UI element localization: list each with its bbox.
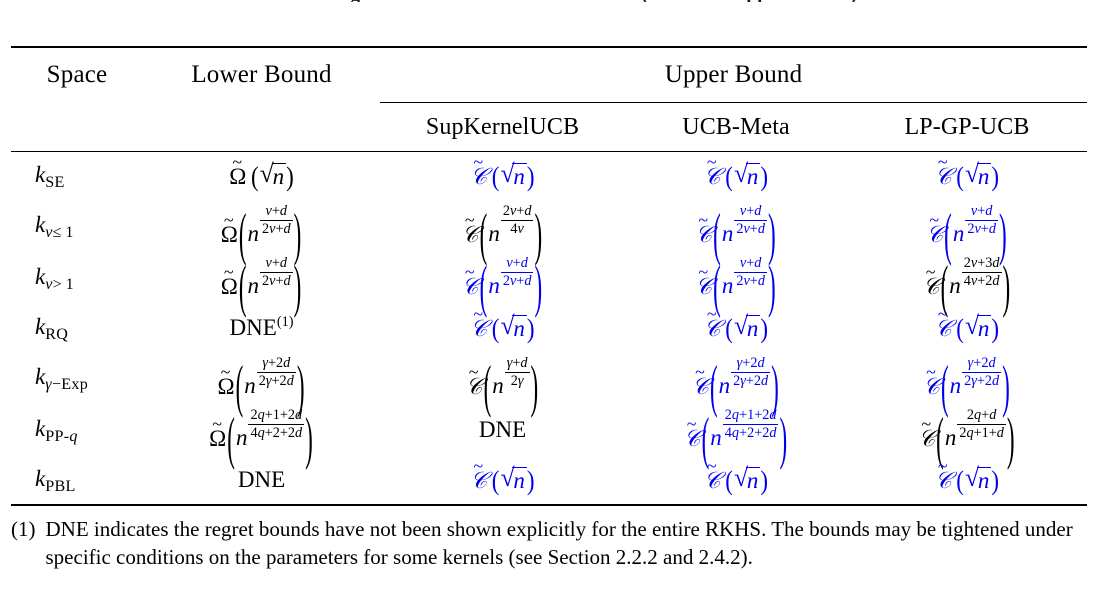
tilde-accent-icon: ~ xyxy=(465,212,475,230)
bounds-table: Space Lower Bound Upper Bound xyxy=(11,48,1087,102)
sqrt-icon: √n xyxy=(965,163,991,188)
cell-ucb-meta: ~𝒞(nν+d2ν+d) xyxy=(625,200,847,252)
cell-lp-gp-ucb: ~𝒞(nν+d2ν+d) xyxy=(847,200,1087,252)
bound-expression: ~𝒞 (√n) xyxy=(935,163,999,188)
cell-lp-gp-ucb: ~𝒞(n2ν+3d4ν+2d) xyxy=(847,252,1087,304)
bound-expression: ~𝒞(nγ+2d2γ+2d) xyxy=(923,356,1011,397)
space-kernel-label: kν> 1 xyxy=(35,265,74,293)
footnote-marker: (1) xyxy=(11,516,36,544)
bound-expression: ~𝒞 (√n) xyxy=(935,467,999,492)
sqrt-icon: √n xyxy=(734,467,760,492)
bound-expression: ~Ω(nν+d2ν+d) xyxy=(221,204,303,245)
cell-ucb-meta: ~𝒞(nγ+2d2γ+2d) xyxy=(625,352,847,404)
tilde-accent-icon: ~ xyxy=(707,154,717,172)
accent-tilde-symbol: ~𝒞 xyxy=(692,375,709,398)
cell-lower-bound: ~Ω(nν+d2ν+d) xyxy=(143,200,380,252)
cell-lower-bound: ~Ω (√n) xyxy=(143,152,380,200)
sqrt-icon: √n xyxy=(500,315,526,340)
regret-bounds-table: Space Lower Bound Upper Bound SupKernelU… xyxy=(11,46,1087,506)
bound-expression: ~𝒞(nν+d2ν+d) xyxy=(695,204,776,245)
accent-tilde-symbol: ~𝒞 xyxy=(704,317,721,340)
tilde-accent-icon: ~ xyxy=(698,212,708,230)
tilde-accent-icon: ~ xyxy=(929,212,939,230)
exponent-fraction: 2q+1+2d4q+2+2d xyxy=(248,408,304,440)
exponent-fraction: γ+d2γ xyxy=(505,356,530,388)
cell-lp-gp-ucb: ~𝒞 (√n) xyxy=(847,456,1087,504)
sqrt-icon: √n xyxy=(500,163,526,188)
accent-tilde-symbol: ~𝒞 xyxy=(704,469,721,492)
bound-expression: ~Ω(nγ+2d2γ+2d) xyxy=(218,356,306,397)
table-bottom-rule xyxy=(11,504,1087,506)
exponent-fraction: 2ν+3d4ν+2d xyxy=(962,256,1002,288)
bound-expression: ~𝒞 (√n) xyxy=(470,467,534,492)
cell-supkernelucb: ~𝒞 (√n) xyxy=(380,152,625,200)
space-kernel-label: kRQ xyxy=(35,315,68,343)
space-kernel-label: kPBL xyxy=(35,467,76,495)
tilde-accent-icon: ~ xyxy=(921,416,931,434)
exponent-fraction: γ+2d2γ+2d xyxy=(962,356,1001,388)
tilde-accent-icon: ~ xyxy=(938,306,948,324)
accent-tilde-symbol: ~𝒞 xyxy=(470,317,487,340)
bound-expression: ~Ω(nν+d2ν+d) xyxy=(221,256,303,297)
accent-tilde-symbol: ~𝒞 xyxy=(923,375,940,398)
table-row: kPBLDNE~𝒞 (√n)~𝒞 (√n)~𝒞 (√n) xyxy=(11,456,1087,504)
bound-expression: ~𝒞(nγ+2d2γ+2d) xyxy=(692,356,780,397)
accent-tilde-symbol: ~𝒞 xyxy=(462,275,479,298)
cell-supkernelucb: ~𝒞(nν+d2ν+d) xyxy=(380,252,625,304)
cell-ucb-meta: ~𝒞 (√n) xyxy=(625,152,847,200)
table-footnote: (1) DNE indicates the regret bounds have… xyxy=(11,516,1087,572)
sqrt-icon: √n xyxy=(965,467,991,492)
cell-ucb-meta: ~𝒞(nν+d2ν+d) xyxy=(625,252,847,304)
cell-ucb-meta: ~𝒞 (√n) xyxy=(625,456,847,504)
tilde-accent-icon: ~ xyxy=(926,264,936,282)
accent-tilde-symbol: ~𝒞 xyxy=(470,165,487,188)
bound-expression: ~𝒞 (√n) xyxy=(470,163,534,188)
bound-expression: ~𝒞(nν+d2ν+d) xyxy=(926,204,1007,245)
tilde-accent-icon: ~ xyxy=(473,154,483,172)
accent-tilde-symbol: ~𝒞 xyxy=(923,275,940,298)
accent-tilde-symbol: ~𝒞 xyxy=(462,223,479,246)
space-kernel-label: kSE xyxy=(35,163,65,191)
tilde-accent-icon: ~ xyxy=(224,264,234,282)
accent-tilde-symbol: ~𝒞 xyxy=(935,165,952,188)
accent-tilde-symbol: ~𝒞 xyxy=(695,275,712,298)
cell-lower-bound: ~Ω(nν+d2ν+d) xyxy=(143,252,380,304)
sqrt-icon: √n xyxy=(734,315,760,340)
cell-lp-gp-ucb: ~𝒞 (√n) xyxy=(847,304,1087,352)
bound-expression: ~𝒞 (√n) xyxy=(470,315,534,340)
tilde-accent-icon: ~ xyxy=(926,364,936,382)
cell-space: kγ−Exp xyxy=(11,352,143,404)
accent-tilde-symbol: ~Ω xyxy=(221,223,238,246)
cell-lp-gp-ucb: ~𝒞(n2q+d2q+1+d) xyxy=(847,404,1087,456)
bound-expression: ~𝒞 (√n) xyxy=(704,163,768,188)
bound-expression: ~𝒞 (√n) xyxy=(704,315,768,340)
table-row: kSE~Ω (√n)~𝒞 (√n)~𝒞 (√n)~𝒞 (√n) xyxy=(11,152,1087,200)
table-header-row: Space Lower Bound Upper Bound xyxy=(11,48,1087,102)
bound-expression: ~𝒞 (√n) xyxy=(704,467,768,492)
bounds-body-table: kSE~Ω (√n)~𝒞 (√n)~𝒞 (√n)~𝒞 (√n)kν≤ 1~Ω(n… xyxy=(11,152,1087,504)
cell-ucb-meta: ~𝒞 (√n) xyxy=(625,304,847,352)
bounds-subheader-table: SupKernelUCB UCB-Meta LP-GP-UCB xyxy=(11,103,1087,151)
accent-tilde-symbol: ~Ω xyxy=(221,275,238,298)
subheader-lower-blank xyxy=(143,103,380,151)
cell-space: kν> 1 xyxy=(11,252,143,304)
bound-expression: ~𝒞 (√n) xyxy=(935,315,999,340)
tilde-accent-icon: ~ xyxy=(224,212,234,230)
cell-lower-bound: DNE(1) xyxy=(143,304,380,352)
exponent-fraction: ν+d2ν+d xyxy=(260,256,293,288)
dne-label: DNE xyxy=(238,468,285,491)
tilde-accent-icon: ~ xyxy=(938,458,948,476)
exponent-fraction: ν+d2ν+d xyxy=(734,256,767,288)
tilde-accent-icon: ~ xyxy=(473,458,483,476)
accent-tilde-symbol: ~Ω xyxy=(209,427,226,450)
cell-lower-bound: ~Ω(nγ+2d2γ+2d) xyxy=(143,352,380,404)
cell-space: kν≤ 1 xyxy=(11,200,143,252)
tilde-accent-icon: ~ xyxy=(938,154,948,172)
table-row: kν> 1~Ω(nν+d2ν+d)~𝒞(nν+d2ν+d)~𝒞(nν+d2ν+d… xyxy=(11,252,1087,304)
tilde-accent-icon: ~ xyxy=(232,154,242,172)
cell-supkernelucb: DNE xyxy=(380,404,625,456)
tilde-accent-icon: ~ xyxy=(465,264,475,282)
cell-supkernelucb: ~𝒞 (√n) xyxy=(380,304,625,352)
tilde-accent-icon: ~ xyxy=(221,364,231,382)
header-upper-bound: Upper Bound xyxy=(380,48,1087,102)
footnote-text: DNE indicates the regret bounds have not… xyxy=(46,516,1088,572)
cell-space: kPBL xyxy=(11,456,143,504)
tilde-accent-icon: ~ xyxy=(212,416,222,434)
cell-supkernelucb: ~𝒞(nγ+d2γ) xyxy=(380,352,625,404)
table-row: kPP-q~Ω(n2q+1+2d4q+2+2d)DNE~𝒞(n2q+1+2d4q… xyxy=(11,404,1087,456)
accent-tilde-symbol: ~Ω xyxy=(229,165,246,188)
header-lp-gp-ucb: LP-GP-UCB xyxy=(847,103,1087,151)
subheader-space-blank xyxy=(11,103,143,151)
table-row: kRQDNE(1)~𝒞 (√n)~𝒞 (√n)~𝒞 (√n) xyxy=(11,304,1087,352)
accent-tilde-symbol: ~𝒞 xyxy=(470,469,487,492)
cell-supkernelucb: ~𝒞 (√n) xyxy=(380,456,625,504)
cell-lower-bound: DNE xyxy=(143,456,380,504)
tilde-accent-icon: ~ xyxy=(687,416,697,434)
accent-tilde-symbol: ~𝒞 xyxy=(935,317,952,340)
exponent-fraction: γ+2d2γ+2d xyxy=(731,356,770,388)
sqrt-icon: √n xyxy=(965,315,991,340)
accent-tilde-symbol: ~𝒞 xyxy=(684,427,701,450)
table-page: Table 2.1: Regret bounds for kernelized … xyxy=(0,0,1098,613)
cell-lp-gp-ucb: ~𝒞(nγ+2d2γ+2d) xyxy=(847,352,1087,404)
table-row: kγ−Exp~Ω(nγ+2d2γ+2d)~𝒞(nγ+d2γ)~𝒞(nγ+2d2γ… xyxy=(11,352,1087,404)
accent-tilde-symbol: ~𝒞 xyxy=(704,165,721,188)
sqrt-icon: √n xyxy=(260,163,286,188)
header-ucb-meta: UCB-Meta xyxy=(625,103,847,151)
dne-label: DNE xyxy=(479,418,526,441)
bound-expression: ~𝒞(nν+d2ν+d) xyxy=(462,256,543,297)
cell-lower-bound: ~Ω(n2q+1+2d4q+2+2d) xyxy=(143,404,380,456)
bound-expression: ~𝒞(n2ν+d4ν) xyxy=(462,204,543,245)
tilde-accent-icon: ~ xyxy=(698,264,708,282)
bound-expression: ~𝒞(nν+d2ν+d) xyxy=(695,256,776,297)
space-kernel-label: kPP-q xyxy=(35,417,78,445)
footnote-ref: (1) xyxy=(277,314,294,330)
space-kernel-label: kν≤ 1 xyxy=(35,213,74,241)
accent-tilde-symbol: ~𝒞 xyxy=(918,427,935,450)
tilde-accent-icon: ~ xyxy=(707,306,717,324)
sqrt-icon: √n xyxy=(500,467,526,492)
accent-tilde-symbol: ~𝒞 xyxy=(695,223,712,246)
exponent-fraction: 2ν+d4ν xyxy=(501,204,534,236)
accent-tilde-symbol: ~𝒞 xyxy=(466,375,483,398)
cropped-caption: Table 2.1: Regret bounds for kernelized … xyxy=(0,0,1098,2)
cell-space: kPP-q xyxy=(11,404,143,456)
cell-supkernelucb: ~𝒞(n2ν+d4ν) xyxy=(380,200,625,252)
table-subheader-row: SupKernelUCB UCB-Meta LP-GP-UCB xyxy=(11,103,1087,151)
sqrt-icon: √n xyxy=(734,163,760,188)
tilde-accent-icon: ~ xyxy=(695,364,705,382)
tilde-accent-icon: ~ xyxy=(469,364,479,382)
exponent-fraction: ν+d2ν+d xyxy=(965,204,998,236)
header-supkernelucb: SupKernelUCB xyxy=(380,103,625,151)
bound-expression: ~𝒞(n2ν+3d4ν+2d) xyxy=(923,256,1011,297)
bound-expression: ~𝒞(n2q+d2q+1+d) xyxy=(918,408,1015,449)
tilde-accent-icon: ~ xyxy=(707,458,717,476)
space-kernel-label: kγ−Exp xyxy=(35,365,88,393)
cell-ucb-meta: ~𝒞(n2q+1+2d4q+2+2d) xyxy=(625,404,847,456)
cell-space: kSE xyxy=(11,152,143,200)
exponent-fraction: ν+d2ν+d xyxy=(501,256,534,288)
bound-expression: ~Ω (√n) xyxy=(229,163,293,188)
tilde-accent-icon: ~ xyxy=(473,306,483,324)
exponent-fraction: 2q+1+2d4q+2+2d xyxy=(723,408,779,440)
exponent-fraction: γ+2d2γ+2d xyxy=(257,356,296,388)
accent-tilde-symbol: ~𝒞 xyxy=(935,469,952,492)
dne-label: DNE(1) xyxy=(230,315,294,339)
cell-lp-gp-ucb: ~𝒞 (√n) xyxy=(847,152,1087,200)
header-space: Space xyxy=(11,48,143,102)
exponent-fraction: ν+d2ν+d xyxy=(260,204,293,236)
exponent-fraction: 2q+d2q+1+d xyxy=(957,408,1006,440)
exponent-fraction: ν+d2ν+d xyxy=(734,204,767,236)
header-lower-bound: Lower Bound xyxy=(143,48,380,102)
cell-space: kRQ xyxy=(11,304,143,352)
accent-tilde-symbol: ~Ω xyxy=(218,375,235,398)
table-row: kν≤ 1~Ω(nν+d2ν+d)~𝒞(n2ν+d4ν)~𝒞(nν+d2ν+d)… xyxy=(11,200,1087,252)
bound-expression: ~𝒞(nγ+d2γ) xyxy=(466,356,539,397)
accent-tilde-symbol: ~𝒞 xyxy=(926,223,943,246)
